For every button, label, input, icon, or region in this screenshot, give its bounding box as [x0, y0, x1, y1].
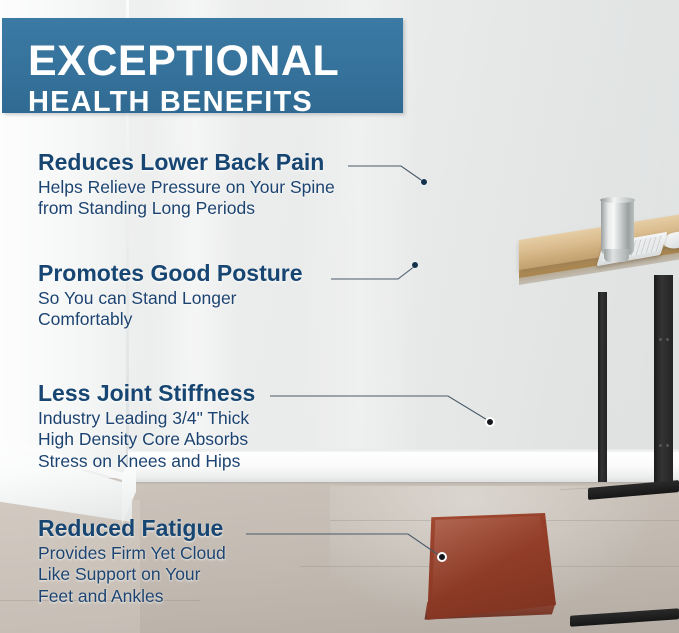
callout-dot-1 [421, 179, 427, 185]
benefit-body: Provides Firm Yet Cloud Like Support on … [38, 543, 226, 607]
benefit-body-line: High Density Core Absorbs [38, 429, 255, 450]
benefit-title: Promotes Good Posture [38, 261, 303, 286]
callout-dot-4 [437, 552, 447, 562]
benefit-title: Reduced Fatigue [38, 516, 226, 541]
benefit-block-2: Promotes Good Posture So You can Stand L… [38, 261, 303, 331]
benefit-title: Reduces Lower Back Pain [38, 150, 335, 175]
callout-dot-2 [412, 262, 418, 268]
benefit-body: Industry Leading 3/4" Thick High Density… [38, 408, 255, 472]
benefit-body-line: from Standing Long Periods [38, 198, 335, 219]
benefit-body: Helps Relieve Pressure on Your Spine fro… [38, 177, 335, 220]
benefit-title: Less Joint Stiffness [38, 381, 255, 406]
benefit-body-line: Stress on Knees and Hips [38, 451, 255, 472]
callout-dot-3 [485, 417, 495, 427]
person-standing [400, 0, 679, 633]
benefit-block-4: Reduced Fatigue Provides Firm Yet Cloud … [38, 516, 226, 607]
infographic-root: EXCEPTIONAL HEALTH BENEFITS Reduces Lowe… [0, 0, 679, 633]
benefit-block-3: Less Joint Stiffness Industry Leading 3/… [38, 381, 255, 472]
benefit-body: So You can Stand Longer Comfortably [38, 288, 303, 331]
benefit-body-line: Industry Leading 3/4" Thick [38, 408, 255, 429]
banner-title-line2: HEALTH BENEFITS [28, 88, 313, 117]
benefit-body-line: Like Support on Your [38, 564, 226, 585]
benefit-body-line: Provides Firm Yet Cloud [38, 543, 226, 564]
title-banner: EXCEPTIONAL HEALTH BENEFITS [2, 18, 403, 113]
benefit-body-line: Helps Relieve Pressure on Your Spine [38, 177, 335, 198]
banner-title-line1: EXCEPTIONAL [28, 40, 339, 83]
benefit-block-1: Reduces Lower Back Pain Helps Relieve Pr… [38, 150, 335, 220]
benefit-body-line: Comfortably [38, 309, 303, 330]
benefit-body-line: Feet and Ankles [38, 586, 226, 607]
benefit-body-line: So You can Stand Longer [38, 288, 303, 309]
